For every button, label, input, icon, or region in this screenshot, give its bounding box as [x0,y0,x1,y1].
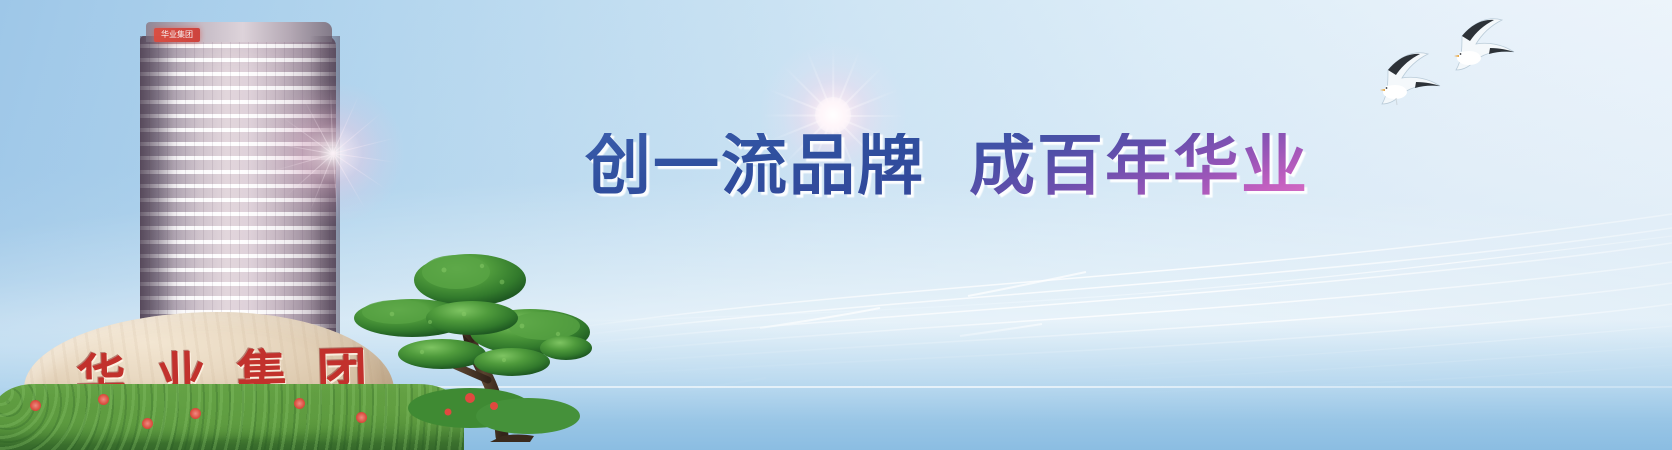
slogan-text: 创一流品牌成百年华业 [585,133,1309,199]
slogan-part1: 创一流品牌 [585,133,925,199]
hedge-flower [294,398,305,409]
seagull-right [1454,19,1514,70]
hedge-flower [142,418,153,429]
tower-left-shading [140,36,174,352]
seagull-group [1370,8,1570,118]
bonsai-pine-tree [352,222,602,442]
hedge-flower [30,400,41,411]
seagull-left [1380,53,1440,105]
slogan-part2: 成百年华业 [969,133,1309,199]
tower-right-shading [310,36,340,352]
hero-banner: 华业集团 华 业 集 团 [0,0,1672,450]
rooftop-sign: 华业集团 [154,28,200,42]
office-tower: 华业集团 [140,22,340,352]
hedge-flower [98,394,109,405]
hedge-flower [190,408,201,419]
